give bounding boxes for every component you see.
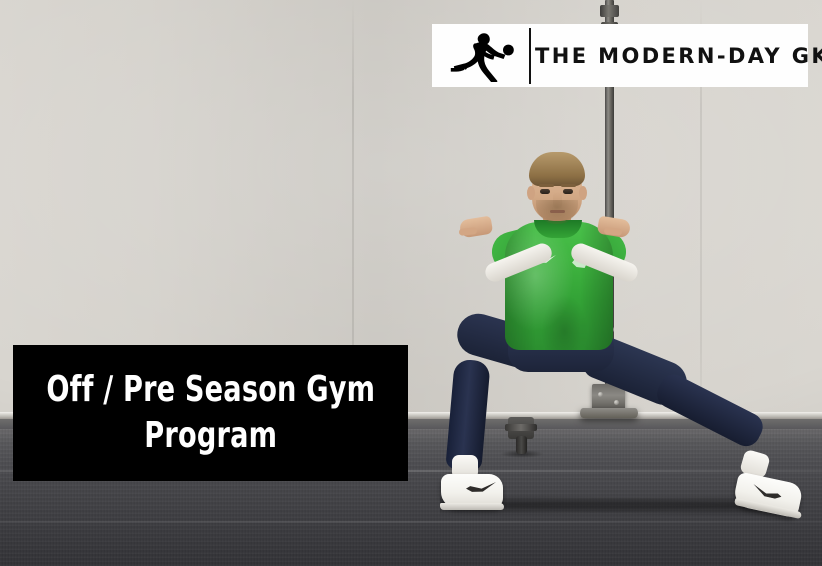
right-eye <box>563 189 573 194</box>
torso-shading <box>505 222 613 350</box>
right-shin <box>652 370 767 451</box>
left-eyebrow <box>539 184 554 187</box>
left-ear <box>527 186 535 200</box>
screenshot-canvas: THE MODERN-DAY GK Off / Pre Season Gym P… <box>0 0 822 566</box>
left-eye <box>540 189 550 194</box>
title-card-text: Off / Pre Season Gym Program <box>46 367 375 459</box>
diving-goalkeeper-icon <box>446 30 518 82</box>
left-shoe-sole <box>440 503 504 510</box>
title-card: Off / Pre Season Gym Program <box>13 345 408 481</box>
right-ear <box>579 186 587 200</box>
brand-logo-bar[interactable]: THE MODERN-DAY GK <box>432 24 808 87</box>
right-eyebrow <box>561 184 576 187</box>
mouth <box>550 210 565 213</box>
brand-logo-mark <box>432 24 529 87</box>
hair <box>529 152 585 186</box>
brand-name-text: THE MODERN-DAY GK <box>531 44 822 68</box>
